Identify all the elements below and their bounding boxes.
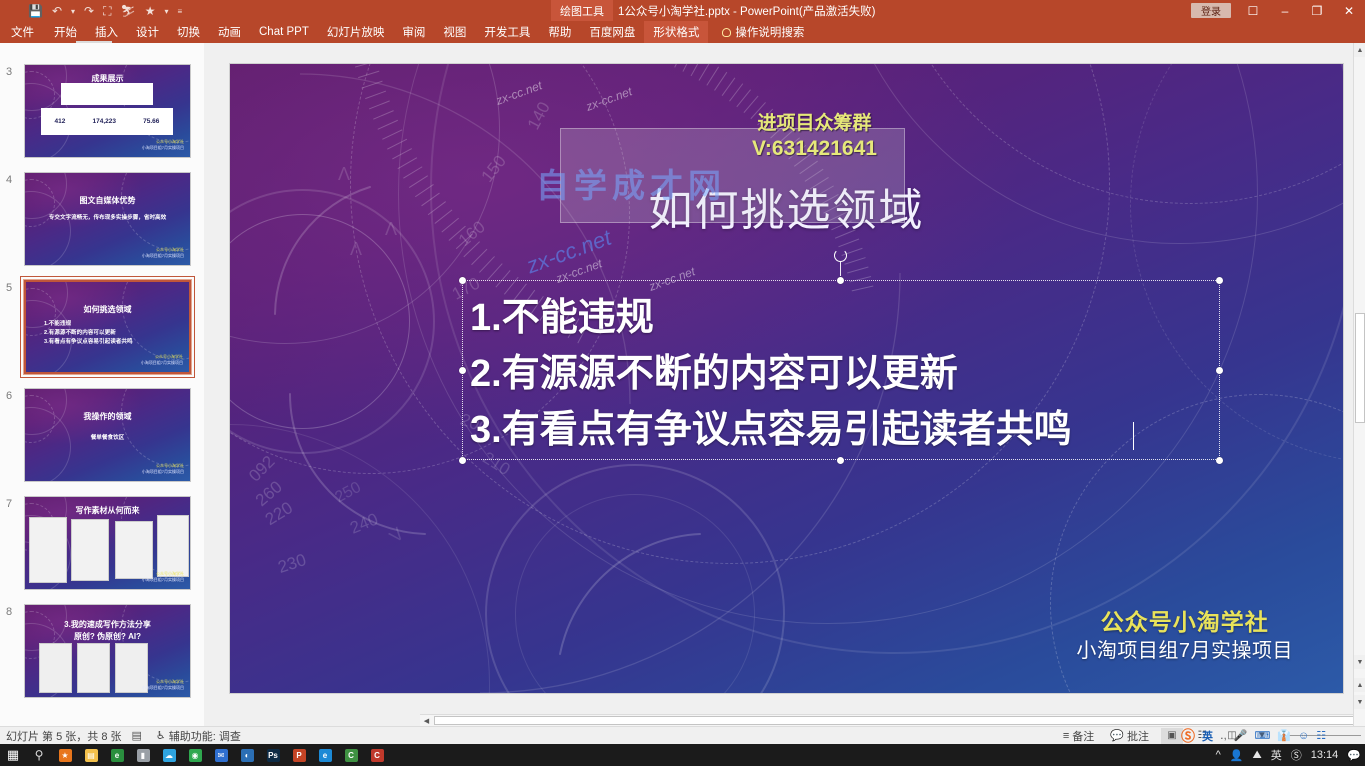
- slide-counter: 幻灯片 第 5 张，共 8 张: [6, 728, 122, 744]
- slide-vertical-scrollbar[interactable]: ▲ ▼ ▲ ▼: [1353, 43, 1365, 726]
- thumbnail-preview[interactable]: 3.我的速成写作方法分享原创? 伪原创? AI?公众号小淘学社小淘项目组7月实操…: [24, 604, 191, 698]
- system-tray: ^👤⛰英Ⓢ13:14💬: [1216, 747, 1361, 763]
- thumbnail-decor-ring: [122, 280, 191, 360]
- scroll-down-icon[interactable]: ▼: [1354, 655, 1365, 669]
- thumbnail-preview[interactable]: 写作素材从何而来公众号小淘学社小淘项目组7月实操项目: [24, 496, 191, 590]
- ribbon-tab-5[interactable]: 切换: [168, 21, 209, 43]
- windows-taskbar: ▦⚲★▤e▮☁◉✉◐PsPeCC^👤⛰英Ⓢ13:14💬: [0, 744, 1365, 766]
- watermark-group-info: 进项目众筹群 V:631421641: [752, 112, 877, 162]
- thumbnail-body-line: 3.有看点有争议点容易引起读者共鸣: [44, 337, 133, 345]
- undo-dropdown-icon[interactable]: ▾: [71, 8, 75, 16]
- footer-subtitle: 小淘项目组7月实操项目: [1076, 638, 1293, 665]
- thumbnail-preview[interactable]: 如何挑选领域1.不能违规2.有源源不断的内容可以更新3.有看点有争议点容易引起读…: [24, 280, 191, 374]
- ribbon-tabs: 文件开始插入设计切换动画Chat PPT幻灯片放映审阅视图开发工具帮助百度网盘形…: [0, 21, 1365, 43]
- start-from-beginning-icon[interactable]: ⛶: [103, 5, 111, 17]
- thumbnail-number: 3: [6, 66, 12, 78]
- user-icon[interactable]: 👤: [1230, 749, 1244, 762]
- tell-me-label: 操作说明搜索: [735, 24, 804, 40]
- horizontal-scrollbar[interactable]: ◀: [420, 714, 1365, 726]
- notes-icon: ≡: [1063, 730, 1069, 742]
- thumbnail-item-4[interactable]: 4图文自媒体优势专交文字流畅无，传布现多实操步骤，省时高效公众号小淘学社小淘项目…: [0, 172, 204, 272]
- accessibility-icon: ♿: [156, 729, 166, 742]
- ribbon-tab-11[interactable]: 开发工具: [475, 21, 539, 43]
- slide-5[interactable]: 140 150 160 170 200 210 220 230 240 250 …: [230, 64, 1343, 693]
- comments-button[interactable]: 💬 批注: [1106, 728, 1153, 744]
- slide-layout-icon[interactable]: ▤: [132, 729, 142, 742]
- thumbnail-number: 7: [6, 498, 12, 510]
- ribbon-display-options-icon[interactable]: ☐: [1237, 0, 1269, 21]
- rotation-stem: [840, 262, 841, 276]
- slide-editing-pane: 140 150 160 170 200 210 220 230 240 250 …: [204, 43, 1365, 726]
- thumbnail-body-line: 1.不能违规: [44, 319, 71, 327]
- ribbon-tab-14[interactable]: 形状格式: [644, 21, 708, 43]
- thumbnail-item-6[interactable]: 6我操作的领域餐单餐食饮区公众号小淘学社小淘项目组7月实操项目: [0, 388, 204, 488]
- thumbnail-body-line: 2.有源源不断的内容可以更新: [44, 328, 116, 336]
- app-red-icon[interactable]: C: [364, 744, 390, 766]
- taskbar-clock[interactable]: 13:14: [1311, 749, 1339, 761]
- accessibility-button[interactable]: ♿ 辅助功能: 调查: [152, 728, 245, 744]
- sogou-icon[interactable]: Ⓢ: [1291, 747, 1302, 763]
- title-bar: 💾 ↶ ▾ ↷ ⛶ ⛷ ★ ▾ ≡ 绘图工具 1公众号小淘学社.pptx - P…: [0, 0, 1365, 21]
- ime-punctuation-icon[interactable]: ․,: [1220, 729, 1227, 742]
- voice-input-icon[interactable]: 🎤: [1234, 729, 1248, 742]
- file-explorer-icon[interactable]: ▤: [78, 744, 104, 766]
- status-bar: 幻灯片 第 5 张，共 8 张 ▤ ♿ 辅助功能: 调查 ≡ 备注 💬 批注 ▣…: [0, 726, 1365, 744]
- emoji-icon[interactable]: ☺: [1298, 730, 1309, 742]
- resize-handle-w[interactable]: [459, 367, 466, 374]
- redo-icon[interactable]: ↷: [84, 5, 94, 17]
- ribbon-tab-7[interactable]: Chat PPT: [250, 21, 318, 43]
- thumbnail-preview[interactable]: 我操作的领域餐单餐食饮区公众号小淘学社小淘项目组7月实操项目: [24, 388, 191, 482]
- thumbnail-title: 图文自媒体优势: [25, 195, 190, 206]
- office-blue-icon[interactable]: e: [312, 744, 338, 766]
- chevron-up-icon[interactable]: ^: [1216, 749, 1221, 761]
- ribbon-tab-12[interactable]: 帮助: [539, 21, 580, 43]
- sign-in-button[interactable]: 登录: [1191, 3, 1231, 18]
- lightbulb-icon: [722, 28, 731, 37]
- tell-me-search[interactable]: 操作说明搜索: [708, 24, 804, 40]
- slide-thumbnail-pane[interactable]: 3成果展示412174,22375.66公众号小淘学社小淘项目组7月实操项目4图…: [0, 43, 204, 726]
- document-title: 1公众号小淘学社.pptx - PowerPoint(产品激活失败): [618, 0, 876, 21]
- browser-icon[interactable]: ◐: [234, 744, 260, 766]
- save-icon[interactable]: 💾: [28, 5, 43, 17]
- thumbnail-stat-value: 174,223: [93, 118, 117, 125]
- thumbnail-stat-value: 75.66: [143, 118, 159, 125]
- wechat-icon[interactable]: ✉: [208, 744, 234, 766]
- thumbnail-title: 我操作的领域: [25, 411, 190, 422]
- sogou-logo-icon[interactable]: Ⓢ: [1181, 726, 1195, 746]
- sogou-ime-bar[interactable]: Ⓢ 英 ․, 🎤 ⌨ 👔 ☺ ☷: [1181, 727, 1326, 744]
- thumbnail-image: [115, 521, 153, 579]
- resize-handle-s[interactable]: [837, 457, 844, 464]
- thumbnail-stat-card: 412174,22375.66: [41, 108, 173, 135]
- toolbox-icon[interactable]: 👔: [1277, 729, 1291, 742]
- cloud-disk-icon[interactable]: ☁: [156, 744, 182, 766]
- thumbnail-preview[interactable]: 成果展示412174,22375.66公众号小淘学社小淘项目组7月实操项目: [24, 64, 191, 158]
- powerpoint-window: 💾 ↶ ▾ ↷ ⛶ ⛷ ★ ▾ ≡ 绘图工具 1公众号小淘学社.pptx - P…: [0, 0, 1365, 766]
- scroll-up-icon[interactable]: ▲: [1354, 43, 1365, 57]
- thumbnail-footer-sub: 小淘项目组7月实操项目: [142, 253, 184, 259]
- photoshop-icon[interactable]: Ps: [260, 744, 286, 766]
- apps-icon[interactable]: ☷: [1316, 729, 1326, 742]
- watermark-group-line2: V:631421641: [752, 136, 877, 162]
- windows-start-icon[interactable]: ▦: [0, 744, 26, 766]
- thumbnail-image: [71, 519, 109, 581]
- search-icon[interactable]: ⚲: [26, 744, 52, 766]
- thumbnail-title: 如何挑选领域: [26, 304, 189, 315]
- ribbon-tab-8[interactable]: 幻灯片放映: [318, 21, 394, 43]
- selection-frame[interactable]: [462, 280, 1220, 460]
- work-area: 3成果展示412174,22375.66公众号小淘学社小淘项目组7月实操项目4图…: [0, 43, 1365, 726]
- keyboard-icon[interactable]: ⌨: [1254, 729, 1270, 742]
- thumbnail-item-5[interactable]: 5如何挑选领域1.不能违规2.有源源不断的内容可以更新3.有看点有争议点容易引起…: [0, 280, 204, 380]
- close-button[interactable]: ✕: [1333, 0, 1365, 21]
- thumbnail-item-7[interactable]: 7写作素材从何而来公众号小淘学社小淘项目组7月实操项目: [0, 496, 204, 596]
- normal-view-icon[interactable]: ▣: [1161, 728, 1183, 744]
- watermark-group-line1: 进项目众筹群: [752, 112, 877, 136]
- edge-icon[interactable]: e: [104, 744, 130, 766]
- thumbnail-number: 8: [6, 606, 12, 618]
- excel-green-icon[interactable]: C: [338, 744, 364, 766]
- thumbnail-image: [157, 515, 189, 577]
- scroll-left-icon[interactable]: ◀: [420, 715, 433, 726]
- thumbnail-item-3[interactable]: 3成果展示412174,22375.66公众号小淘学社小淘项目组7月实操项目: [0, 64, 204, 164]
- resize-handle-se[interactable]: [1216, 457, 1223, 464]
- thumbnail-footer-sub: 小淘项目组7月实操项目: [142, 685, 184, 691]
- thumbnail-footer-sub: 小淘项目组7月实操项目: [142, 145, 184, 151]
- thumbnail-image: [39, 643, 72, 693]
- antivirus-icon[interactable]: ⛰: [1253, 749, 1262, 762]
- ime-mode-label[interactable]: 英: [1202, 728, 1213, 744]
- thumbnail-footer-sub: 小淘项目组7月实操项目: [142, 577, 184, 583]
- resize-handle-n[interactable]: [837, 277, 844, 284]
- next-slide-icon[interactable]: ▼: [1354, 695, 1365, 709]
- maximize-button[interactable]: ❐: [1301, 0, 1333, 21]
- thumbnail-number: 5: [6, 282, 12, 294]
- thumbnail-title: 3.我的速成写作方法分享: [25, 619, 190, 630]
- ribbon-tab-2[interactable]: 开始: [45, 21, 86, 43]
- thumbnail-preview[interactable]: 图文自媒体优势专交文字流畅无，传布现多实操步骤，省时高效公众号小淘学社小淘项目组…: [24, 172, 191, 266]
- thumbnail-number: 6: [6, 390, 12, 402]
- slide-scrollbar-thumb[interactable]: [1355, 313, 1365, 423]
- footer-brand-name: 公众号小淘学社: [1076, 607, 1293, 638]
- resize-handle-e[interactable]: [1216, 367, 1223, 374]
- app-store-icon[interactable]: ★: [52, 744, 78, 766]
- powerpoint-icon[interactable]: P: [286, 744, 312, 766]
- slide-footer: 公众号小淘学社 小淘项目组7月实操项目: [1076, 607, 1293, 665]
- resize-handle-sw[interactable]: [459, 457, 466, 464]
- present-icon[interactable]: ⛷: [121, 5, 136, 17]
- favorite-icon[interactable]: ★: [145, 5, 156, 17]
- thumbnail-footer-sub: 小淘项目组7月实操项目: [142, 469, 184, 475]
- ribbon-tab-13[interactable]: 百度网盘: [580, 21, 644, 43]
- context-tab-drawing-tools[interactable]: 绘图工具: [551, 0, 613, 21]
- thumbnail-image: [29, 517, 67, 583]
- notification-icon[interactable]: 💬: [1347, 749, 1361, 762]
- resize-handle-ne[interactable]: [1216, 277, 1223, 284]
- thumbnail-number: 4: [6, 174, 12, 186]
- usb-drive-icon[interactable]: ▮: [130, 744, 156, 766]
- ribbon-tab-4[interactable]: 设计: [127, 21, 168, 43]
- thumbnail-image: [77, 643, 110, 693]
- ribbon-tab-6[interactable]: 动画: [209, 21, 250, 43]
- decor-arrow: Λ: [350, 239, 362, 260]
- thumbnail-decor-ring: [121, 388, 191, 467]
- thumbnail-decor-ring: [121, 172, 191, 251]
- watermark-site-name: 自学成才网: [536, 159, 726, 207]
- ribbon-tab-1[interactable]: 文件: [0, 21, 45, 43]
- minimize-button[interactable]: –: [1269, 0, 1301, 21]
- previous-slide-icon[interactable]: ▲: [1354, 678, 1365, 692]
- customize-quick-access-icon[interactable]: ≡: [178, 8, 183, 16]
- comment-icon: 💬: [1110, 729, 1124, 742]
- thumbnail-stat-card: [61, 83, 153, 105]
- resize-handle-nw[interactable]: [459, 277, 466, 284]
- undo-icon[interactable]: ↶: [52, 5, 62, 17]
- thumbnail-subtitle: 原创? 伪原创? AI?: [25, 631, 190, 642]
- chrome-icon[interactable]: ◉: [182, 744, 208, 766]
- thumbnail-footer-sub: 小淘项目组7月实操项目: [141, 360, 183, 366]
- ribbon-tab-10[interactable]: 视图: [434, 21, 475, 43]
- thumbnail-stat-value: 412: [55, 118, 66, 125]
- thumbnail-subtitle: 专交文字流畅无，传布现多实操步骤，省时高效: [25, 213, 190, 221]
- slide-canvas[interactable]: 140 150 160 170 200 210 220 230 240 250 …: [230, 64, 1343, 693]
- favorite-dropdown-icon[interactable]: ▾: [165, 8, 169, 16]
- quick-access-toolbar[interactable]: 💾 ↶ ▾ ↷ ⛶ ⛷ ★ ▾ ≡: [28, 0, 182, 21]
- ribbon-tab-9[interactable]: 审阅: [393, 21, 434, 43]
- thumbnail-subtitle: 餐单餐食饮区: [25, 433, 190, 441]
- horizontal-scrollbar-thumb[interactable]: [434, 716, 1365, 725]
- ime-chinese-icon[interactable]: 英: [1271, 747, 1282, 763]
- window-controls: ☐ – ❐ ✕: [1237, 0, 1365, 21]
- notes-button[interactable]: ≡ 备注: [1059, 728, 1098, 744]
- rotate-handle[interactable]: [834, 249, 847, 262]
- thumbnail-item-8[interactable]: 83.我的速成写作方法分享原创? 伪原创? AI?公众号小淘学社小淘项目组7月实…: [0, 604, 204, 704]
- ribbon-tab-3[interactable]: 插入: [86, 21, 127, 43]
